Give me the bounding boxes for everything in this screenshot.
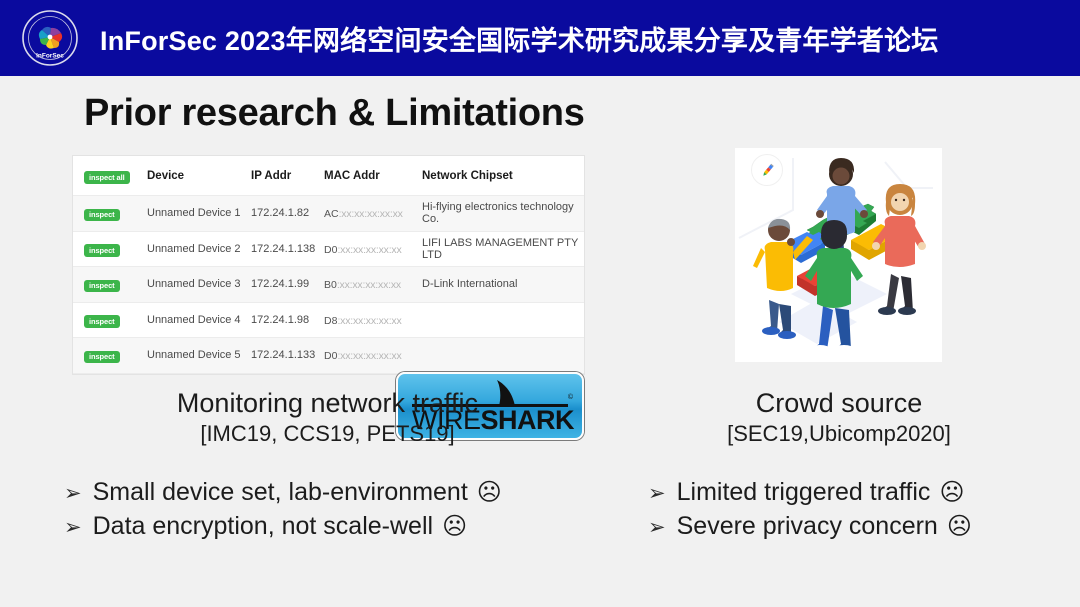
inspect-badge[interactable]: inspect xyxy=(84,244,120,257)
arrow-bullet-icon: ➢ xyxy=(64,477,82,510)
mac-rest: :xx:xx:xx:xx:xx xyxy=(337,279,401,291)
inspect-cell: inspect xyxy=(84,346,147,364)
device-mac: D8:xx:xx:xx:xx:xx xyxy=(324,311,422,329)
device-name: Unnamed Device 1 xyxy=(147,207,251,219)
device-name: Unnamed Device 2 xyxy=(147,243,251,255)
list-item-label: Severe privacy concern xyxy=(677,510,938,543)
mac-prefix: D0 xyxy=(324,244,337,256)
device-mac: B0:xx:xx:xx:xx:xx xyxy=(324,275,422,293)
column-header-ip: IP Addr xyxy=(251,170,324,182)
column-header-chipset: Network Chipset xyxy=(422,170,584,182)
caption-main: Monitoring network traffic xyxy=(72,386,583,420)
list-item: ➢ Data encryption, not scale-well ☹ xyxy=(64,510,502,544)
banner-title: InForSec 2023年网络空间安全国际学术研究成果分享及青年学者论坛 xyxy=(100,19,939,58)
mac-rest: :xx:xx:xx:xx:xx xyxy=(339,208,403,220)
caption-crowdsource: Crowd source [SEC19,Ubicomp2020] xyxy=(700,386,978,448)
frown-face-icon: ☹ xyxy=(939,476,964,509)
page-title: Prior research & Limitations xyxy=(84,92,585,135)
arrow-bullet-icon: ➢ xyxy=(648,511,666,544)
table-header-row: inspect all Device IP Addr MAC Addr Netw… xyxy=(73,156,584,196)
pencil-icon xyxy=(751,154,783,186)
device-ip: 172.24.1.82 xyxy=(251,207,324,219)
mac-rest: :xx:xx:xx:xx:xx xyxy=(337,350,401,362)
caption-monitoring: Monitoring network traffic [IMC19, CCS19… xyxy=(72,386,583,448)
table-row: inspect Unnamed Device 4 172.24.1.98 D8:… xyxy=(73,303,584,339)
frown-face-icon: ☹ xyxy=(947,510,972,543)
device-name: Unnamed Device 4 xyxy=(147,314,251,326)
device-mac: D0:xx:xx:xx:xx:xx xyxy=(324,240,422,258)
device-chipset: LIFI LABS MANAGEMENT PTY LTD xyxy=(422,237,584,261)
device-chipset: Hi-flying electronics technology Co. xyxy=(422,201,584,225)
caption-refs: [SEC19,Ubicomp2020] xyxy=(700,420,978,448)
mac-prefix: B0 xyxy=(324,279,337,291)
inspect-all-cell: inspect all xyxy=(84,167,147,185)
device-ip: 172.24.1.138 xyxy=(251,243,324,255)
list-item: ➢ Limited triggered traffic ☹ xyxy=(648,476,972,510)
inspect-badge[interactable]: inspect xyxy=(84,315,120,328)
inspect-badge[interactable]: inspect xyxy=(84,280,120,293)
inspect-cell: inspect xyxy=(84,204,147,222)
list-item: ➢ Severe privacy concern ☹ xyxy=(648,510,972,544)
device-ip: 172.24.1.133 xyxy=(251,349,324,361)
column-header-mac: MAC Addr xyxy=(324,170,422,182)
inforsec-logo: InForSec xyxy=(22,10,78,66)
table-row: inspect Unnamed Device 2 172.24.1.138 D0… xyxy=(73,232,584,268)
device-chipset: D-Link International xyxy=(422,278,584,290)
mac-prefix: D8 xyxy=(324,315,337,327)
table-row: inspect Unnamed Device 3 172.24.1.99 B0:… xyxy=(73,267,584,303)
list-item-label: Data encryption, not scale-well xyxy=(93,510,433,543)
inspect-cell: inspect xyxy=(84,240,147,258)
device-table-screenshot: inspect all Device IP Addr MAC Addr Netw… xyxy=(72,155,585,375)
mac-prefix: AC xyxy=(324,208,339,220)
frown-face-icon: ☹ xyxy=(477,476,502,509)
arrow-bullet-icon: ➢ xyxy=(64,511,82,544)
mac-rest: :xx:xx:xx:xx:xx xyxy=(337,315,401,327)
device-name: Unnamed Device 5 xyxy=(147,349,251,361)
device-ip: 172.24.1.99 xyxy=(251,278,324,290)
inspect-cell: inspect xyxy=(84,311,147,329)
crowd-puzzle-illustration xyxy=(735,148,942,362)
inspect-badge[interactable]: inspect xyxy=(84,351,120,364)
device-mac: D0:xx:xx:xx:xx:xx xyxy=(324,346,422,364)
limitations-list-left: ➢ Small device set, lab-environment ☹ ➢ … xyxy=(64,476,502,544)
inspect-cell: inspect xyxy=(84,275,147,293)
device-mac: AC:xx:xx:xx:xx:xx xyxy=(324,204,422,222)
table-row: inspect Unnamed Device 1 172.24.1.82 AC:… xyxy=(73,196,584,232)
list-item-label: Small device set, lab-environment xyxy=(93,476,468,509)
list-item: ➢ Small device set, lab-environment ☹ xyxy=(64,476,502,510)
column-header-device: Device xyxy=(147,170,251,182)
frown-face-icon: ☹ xyxy=(442,510,467,543)
caption-main: Crowd source xyxy=(700,386,978,420)
caption-refs: [IMC19, CCS19, PETS19] xyxy=(72,420,583,448)
device-ip: 172.24.1.98 xyxy=(251,314,324,326)
mac-rest: :xx:xx:xx:xx:xx xyxy=(337,244,401,256)
mac-prefix: D0 xyxy=(324,350,337,362)
slide-body: Prior research & Limitations inspect all… xyxy=(0,76,1080,607)
arrow-bullet-icon: ➢ xyxy=(648,477,666,510)
limitations-list-right: ➢ Limited triggered traffic ☹ ➢ Severe p… xyxy=(648,476,972,544)
list-item-label: Limited triggered traffic xyxy=(677,476,931,509)
header-banner: InForSec InForSec 2023年网络空间安全国际学术研究成果分享及… xyxy=(0,0,1080,76)
inspect-badge[interactable]: inspect xyxy=(84,209,120,222)
inspect-all-badge[interactable]: inspect all xyxy=(84,171,130,184)
device-name: Unnamed Device 3 xyxy=(147,278,251,290)
svg-text:InForSec: InForSec xyxy=(36,53,64,60)
table-row: inspect Unnamed Device 5 172.24.1.133 D0… xyxy=(73,338,584,374)
